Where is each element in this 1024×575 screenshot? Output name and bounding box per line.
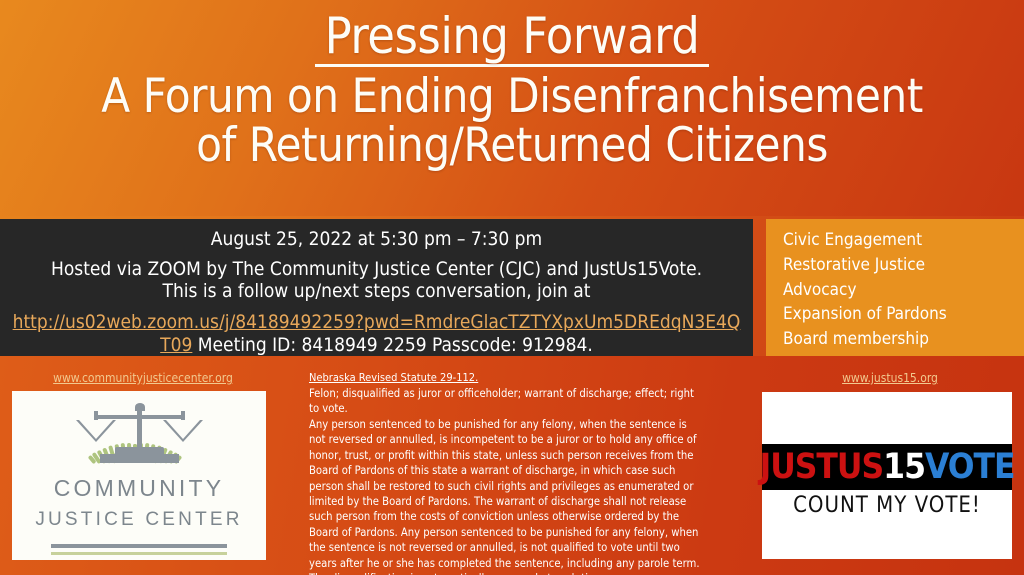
topic-item: Expansion of Pardons bbox=[783, 302, 1024, 327]
topic-item: Civic Engagement bbox=[783, 228, 1024, 253]
justus15-website-link[interactable]: www.justus15.org bbox=[762, 371, 1018, 385]
topic-item: Board membership bbox=[783, 327, 1024, 352]
justus15-logo-bar: JUSTUS15VOTE bbox=[762, 444, 1012, 490]
cjc-website-link[interactable]: www.communityjusticecenter.org bbox=[12, 371, 274, 385]
topics-panel: Civic Engagement Restorative Justice Adv… bbox=[766, 219, 1024, 356]
event-datetime: August 25, 2022 at 5:30 pm – 7:30 pm bbox=[12, 227, 741, 253]
flyer-slide: Pressing Forward A Forum on Ending Disen… bbox=[0, 0, 1024, 575]
cjc-block: www.communityjusticecenter.org bbox=[12, 371, 274, 560]
zoom-meeting-id-passcode: Meeting ID: 8418949 2259 Passcode: 91298… bbox=[192, 334, 592, 356]
justus15-tagline: COUNT MY VOTE! bbox=[762, 493, 1012, 518]
event-join-info: http://us02web.zoom.us/j/84189492259?pwd… bbox=[12, 311, 741, 356]
page-subtitle-line-2: of Returning/Returned Citizens bbox=[196, 122, 828, 171]
scales-of-justice-icon bbox=[79, 403, 199, 463]
cjc-logo-line-2: JUSTICE CENTER bbox=[12, 509, 266, 531]
justus15-block: www.justus15.org JUSTUS15VOTE COUNT MY V… bbox=[762, 371, 1018, 559]
cjc-logo-line-1: COMMUNITY bbox=[12, 475, 266, 502]
statute-paragraph: Felon; disqualified as juror or officeho… bbox=[309, 386, 701, 417]
page-subtitle-line-1: A Forum on Ending Disenfranchisement bbox=[101, 73, 923, 122]
page-title: Pressing Forward bbox=[315, 10, 710, 67]
cjc-logo-rule-green bbox=[51, 552, 227, 555]
statute-block: Nebraska Revised Statute 29-112. Felon; … bbox=[309, 371, 701, 575]
justus15-logo-part-15: 15 bbox=[883, 450, 925, 485]
statute-paragraph: Any person sentenced to be punished for … bbox=[309, 417, 701, 575]
justus15-logo-part-justus: JUSTUS bbox=[759, 450, 883, 485]
event-host-line-2: This is a follow up/next steps conversat… bbox=[12, 280, 741, 303]
justus15-logo: JUSTUS15VOTE COUNT MY VOTE! bbox=[762, 392, 1012, 559]
cjc-logo-rule-gray bbox=[51, 544, 227, 548]
topic-item: Restorative Justice bbox=[783, 253, 1024, 278]
topic-item: Advocacy bbox=[783, 278, 1024, 303]
justus15-logo-part-vote: VOTE bbox=[925, 450, 1015, 485]
cjc-logo: COMMUNITY JUSTICE CENTER bbox=[12, 391, 266, 560]
statute-title: Nebraska Revised Statute 29-112. bbox=[309, 371, 701, 386]
event-host-info: Hosted via ZOOM by The Community Justice… bbox=[12, 258, 741, 304]
header-banner: Pressing Forward A Forum on Ending Disen… bbox=[0, 0, 1024, 216]
event-host-line-1: Hosted via ZOOM by The Community Justice… bbox=[51, 258, 702, 280]
event-details-panel: August 25, 2022 at 5:30 pm – 7:30 pm Hos… bbox=[0, 219, 753, 356]
